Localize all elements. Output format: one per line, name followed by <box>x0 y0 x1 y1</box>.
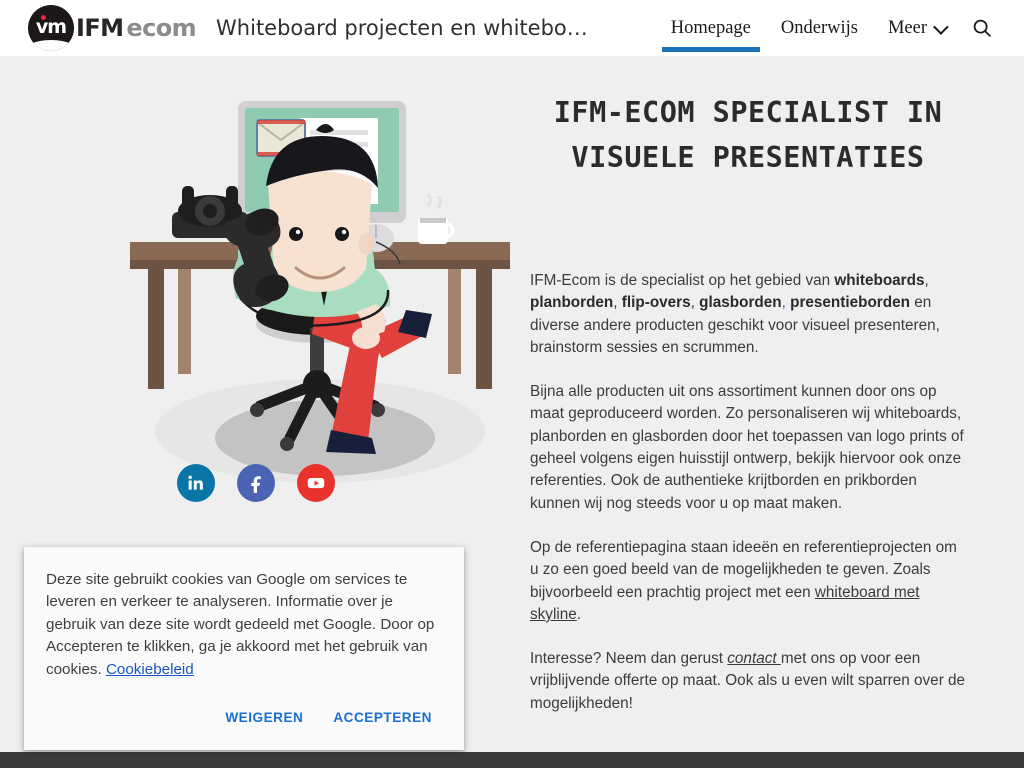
page-title: IFM-Ecom specialist in visuele presentat… <box>530 90 966 180</box>
logo-word-primary: IFM <box>76 14 123 42</box>
p1-bold-whiteboards: whiteboards <box>834 272 924 289</box>
p1-bold-presentieborden: presentieborden <box>790 294 910 311</box>
p1-bold-glasborden: glasborden <box>699 294 781 311</box>
page-root: vm IFMecom Whiteboard projecten en white… <box>0 0 1024 768</box>
hero-illustration <box>120 66 520 506</box>
logo-swoosh-shape <box>28 40 74 51</box>
brand-logo[interactable]: vm IFMecom <box>28 0 196 56</box>
footer-bar <box>0 752 1024 768</box>
p1-bold-planborden: planborden <box>530 294 613 311</box>
p1-text-2: , <box>924 272 928 289</box>
linkedin-icon <box>186 473 206 493</box>
body-copy: IFM-Ecom is de specialist op het gebied … <box>530 270 966 715</box>
youtube-link[interactable] <box>297 464 335 502</box>
cookie-consent-banner: Deze site gebruikt cookies van Google om… <box>24 547 464 750</box>
facebook-link[interactable] <box>237 464 275 502</box>
logo-mark-icon: vm <box>28 5 74 51</box>
social-links <box>0 464 512 502</box>
accept-cookies-button[interactable]: Accepteren <box>323 701 442 734</box>
site-title: Whiteboard projecten en whitebo… <box>216 16 588 40</box>
facebook-icon <box>246 473 266 493</box>
p1-text-4: , <box>691 294 700 311</box>
contact-link[interactable]: contact <box>727 650 781 667</box>
logo-wordmark: IFMecom <box>76 15 196 41</box>
cookie-policy-link[interactable]: Cookiebeleid <box>106 661 194 678</box>
search-button[interactable] <box>960 0 1004 56</box>
man-at-desk-illustration-icon <box>120 66 520 506</box>
right-column: IFM-Ecom specialist in visuele presentat… <box>512 56 1024 752</box>
nav-active-underline <box>662 47 760 52</box>
nav-item-meer-label: Meer <box>888 18 927 39</box>
p3-text-2: . <box>577 606 581 623</box>
paragraph-3: Op de referentiepagina staan ideeën en r… <box>530 537 966 626</box>
chevron-down-icon <box>933 19 949 35</box>
logo-mark-text: vm <box>28 17 74 37</box>
nav-item-homepage[interactable]: Homepage <box>656 0 766 56</box>
paragraph-2: Bijna alle producten uit ons assortiment… <box>530 381 966 515</box>
linkedin-link[interactable] <box>177 464 215 502</box>
paragraph-4: Interesse? Neem dan gerust contact met o… <box>530 648 966 715</box>
p4-text-1: Interesse? Neem dan gerust <box>530 650 727 667</box>
logo-word-secondary: ecom <box>126 14 196 42</box>
search-icon <box>971 17 993 39</box>
site-header: vm IFMecom Whiteboard projecten en white… <box>0 0 1024 56</box>
paragraph-1: IFM-Ecom is de specialist op het gebied … <box>530 270 966 359</box>
main-navigation: Homepage Onderwijs Meer <box>656 0 1004 56</box>
decline-cookies-button[interactable]: Weigeren <box>215 701 313 734</box>
nav-item-homepage-label: Homepage <box>671 18 751 39</box>
nav-item-meer[interactable]: Meer <box>873 0 960 56</box>
p1-bold-flipovers: flip-overs <box>622 294 691 311</box>
page-title-line-2: visuele presentaties <box>571 141 924 174</box>
nav-item-onderwijs-label: Onderwijs <box>781 18 858 39</box>
page-title-line-1: IFM-Ecom specialist in <box>554 96 943 129</box>
p1-text-3: , <box>613 294 622 311</box>
nav-item-onderwijs[interactable]: Onderwijs <box>766 0 873 56</box>
cookie-banner-text: Deze site gebruikt cookies van Google om… <box>46 569 442 681</box>
p1-text-1: IFM-Ecom is de specialist op het gebied … <box>530 272 834 289</box>
cookie-banner-actions: Weigeren Accepteren <box>46 701 442 742</box>
youtube-icon <box>305 472 327 494</box>
cookie-banner-message: Deze site gebruikt cookies van Google om… <box>46 571 434 678</box>
p1-text-5: , <box>782 294 791 311</box>
